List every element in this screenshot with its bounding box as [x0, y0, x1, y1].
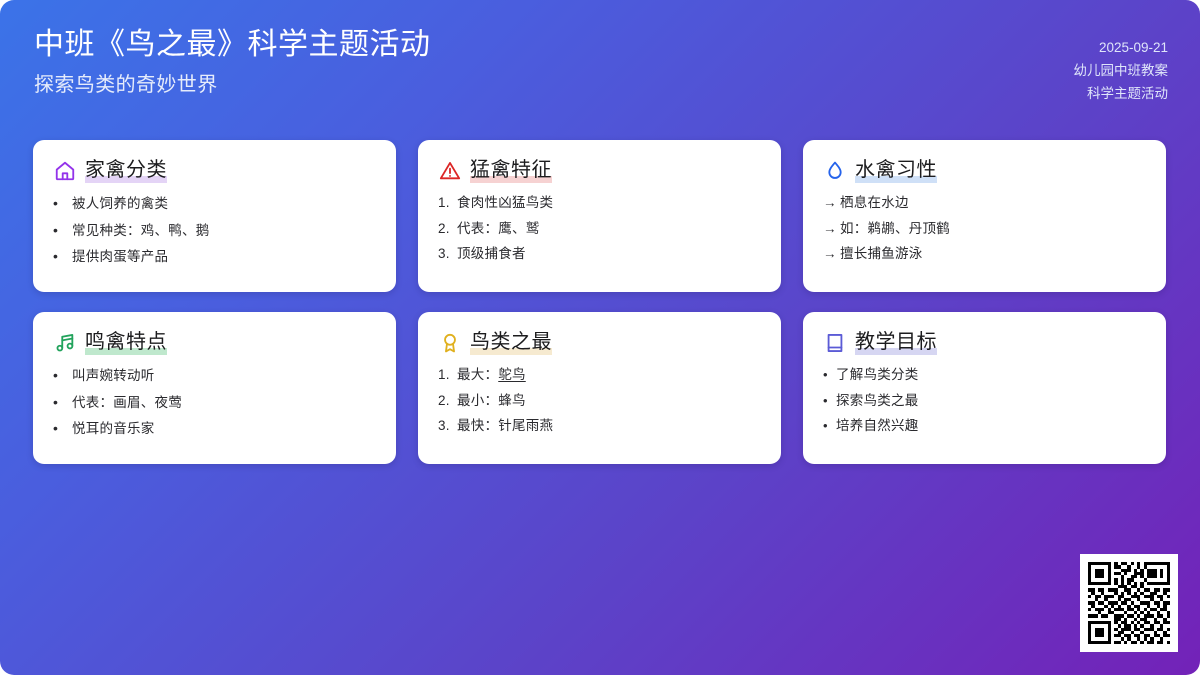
meta-date: 2025-09-21 [1074, 36, 1169, 59]
header-left: 中班《鸟之最》科学主题活动 探索鸟类的奇妙世界 [34, 26, 431, 100]
page-title: 中班《鸟之最》科学主题活动 [34, 26, 431, 64]
list-item: →栖息在水边 [823, 196, 1146, 210]
list-marker: • [53, 223, 72, 237]
list-marker: → [823, 196, 840, 210]
list-marker: • [823, 419, 836, 432]
card-bird-records[interactable]: 鸟类之最1.最大：鸵鸟2.最小：蜂鸟3.最快：针尾雨燕 [418, 312, 781, 464]
list-item-text: 培养自然兴趣 [836, 419, 919, 433]
card-poultry-classification[interactable]: 家禽分类•被人饲养的禽类•常见种类：鸡、鸭、鹅•提供肉蛋等产品 [33, 140, 396, 292]
card-header: 鸣禽特点 [53, 329, 376, 357]
list-item: •代表：画眉、夜莺 [53, 395, 376, 410]
list-item-text: 悦耳的音乐家 [72, 422, 155, 436]
list-item-text: 如：鹈鹕、丹顶鹤 [840, 222, 950, 236]
list-item: •培养自然兴趣 [823, 419, 1146, 433]
list-item: 1.最大：鸵鸟 [438, 368, 761, 382]
list-item: 3.最快：针尾雨燕 [438, 419, 761, 433]
list-item-text: 探索鸟类之最 [836, 394, 919, 408]
header-meta: 2025-09-21 幼儿园中班教案 科学主题活动 [1074, 26, 1169, 106]
card-body: •了解鸟类分类•探索鸟类之最•培养自然兴趣 [823, 368, 1146, 433]
list-item: 2.最小：蜂鸟 [438, 394, 761, 408]
list-item-text: 代表：画眉、夜莺 [72, 396, 182, 410]
list-marker: • [53, 395, 72, 409]
card-waterfowl-habits[interactable]: 水禽习性→栖息在水边→如：鹈鹕、丹顶鹤→擅长捕鱼游泳 [803, 140, 1166, 292]
list-marker: → [823, 247, 840, 261]
list-item-text: 食肉性凶猛鸟类 [457, 196, 553, 210]
list-item-text: 代表：鹰、鹫 [457, 222, 540, 236]
list-item-text: 了解鸟类分类 [836, 368, 919, 382]
card-teaching-goals[interactable]: 教学目标•了解鸟类分类•探索鸟类之最•培养自然兴趣 [803, 312, 1166, 464]
list-item: 3.顶级捕食者 [438, 247, 761, 261]
list-item-text: 栖息在水边 [840, 196, 909, 210]
award-medal-icon [438, 332, 461, 355]
list-marker: 3. [438, 247, 457, 261]
list-marker: • [823, 368, 836, 381]
meta-theme: 科学主题活动 [1074, 82, 1169, 105]
list-item-text: 最小：蜂鸟 [457, 394, 526, 408]
meta-category: 幼儿园中班教案 [1074, 59, 1169, 82]
card-header: 鸟类之最 [438, 329, 761, 357]
list-marker: 3. [438, 419, 457, 433]
card-header: 家禽分类 [53, 157, 376, 185]
list-item: •常见种类：鸡、鸭、鹅 [53, 223, 376, 238]
list-item-text: 顶级捕食者 [457, 247, 526, 261]
list-item: →擅长捕鱼游泳 [823, 247, 1146, 261]
water-drop-icon [823, 160, 846, 183]
slide-root: 中班《鸟之最》科学主题活动 探索鸟类的奇妙世界 2025-09-21 幼儿园中班… [0, 0, 1200, 675]
list-marker: • [53, 249, 72, 263]
list-item: •悦耳的音乐家 [53, 421, 376, 436]
qr-code [1088, 562, 1170, 644]
list-marker: 1. [438, 368, 457, 382]
list-item: 2.代表：鹰、鹫 [438, 222, 761, 236]
slide-header: 中班《鸟之最》科学主题活动 探索鸟类的奇妙世界 2025-09-21 幼儿园中班… [0, 0, 1200, 128]
list-item: •被人饲养的禽类 [53, 196, 376, 211]
list-marker: • [823, 394, 836, 407]
qr-code-panel[interactable] [1080, 554, 1178, 652]
card-header: 猛禽特征 [438, 157, 761, 185]
card-title: 猛禽特征 [470, 159, 552, 184]
list-marker: • [53, 196, 72, 210]
list-item-text: 常见种类：鸡、鸭、鹅 [72, 224, 210, 238]
list-item: →如：鹈鹕、丹顶鹤 [823, 222, 1146, 236]
card-title: 水禽习性 [855, 159, 937, 184]
warning-triangle-icon [438, 160, 461, 183]
list-marker: → [823, 222, 840, 236]
card-title: 家禽分类 [85, 159, 167, 184]
list-item: 1.食肉性凶猛鸟类 [438, 196, 761, 210]
list-item-text: 最大：鸵鸟 [457, 368, 526, 382]
card-header: 教学目标 [823, 329, 1146, 357]
card-title: 教学目标 [855, 331, 937, 356]
list-item: •叫声婉转动听 [53, 368, 376, 383]
list-item-text: 擅长捕鱼游泳 [840, 247, 923, 261]
card-body: 1.食肉性凶猛鸟类2.代表：鹰、鹫3.顶级捕食者 [438, 196, 761, 261]
card-title: 鸟类之最 [470, 331, 552, 356]
list-item: •探索鸟类之最 [823, 394, 1146, 408]
list-item-text: 被人饲养的禽类 [72, 197, 168, 211]
card-body: •被人饲养的禽类•常见种类：鸡、鸭、鹅•提供肉蛋等产品 [53, 196, 376, 264]
list-item-text: 提供肉蛋等产品 [72, 250, 168, 264]
card-body: 1.最大：鸵鸟2.最小：蜂鸟3.最快：针尾雨燕 [438, 368, 761, 433]
music-note-icon [53, 332, 76, 355]
home-icon [53, 160, 76, 183]
list-marker: 2. [438, 222, 457, 236]
card-title: 鸣禽特点 [85, 331, 167, 356]
list-item-text: 叫声婉转动听 [72, 369, 155, 383]
card-body: →栖息在水边→如：鹈鹕、丹顶鹤→擅长捕鱼游泳 [823, 196, 1146, 261]
list-marker: 2. [438, 394, 457, 408]
list-marker: • [53, 421, 72, 435]
list-item-text: 最快：针尾雨燕 [457, 419, 553, 433]
card-grid: 家禽分类•被人饲养的禽类•常见种类：鸡、鸭、鹅•提供肉蛋等产品猛禽特征1.食肉性… [33, 140, 1167, 464]
list-marker: • [53, 368, 72, 382]
book-icon [823, 332, 846, 355]
card-header: 水禽习性 [823, 157, 1146, 185]
card-body: •叫声婉转动听•代表：画眉、夜莺•悦耳的音乐家 [53, 368, 376, 436]
list-marker: 1. [438, 196, 457, 210]
list-item: •提供肉蛋等产品 [53, 249, 376, 264]
list-item: •了解鸟类分类 [823, 368, 1146, 382]
page-subtitle: 探索鸟类的奇妙世界 [34, 70, 431, 100]
card-raptor-traits[interactable]: 猛禽特征1.食肉性凶猛鸟类2.代表：鹰、鹫3.顶级捕食者 [418, 140, 781, 292]
card-songbird-features[interactable]: 鸣禽特点•叫声婉转动听•代表：画眉、夜莺•悦耳的音乐家 [33, 312, 396, 464]
